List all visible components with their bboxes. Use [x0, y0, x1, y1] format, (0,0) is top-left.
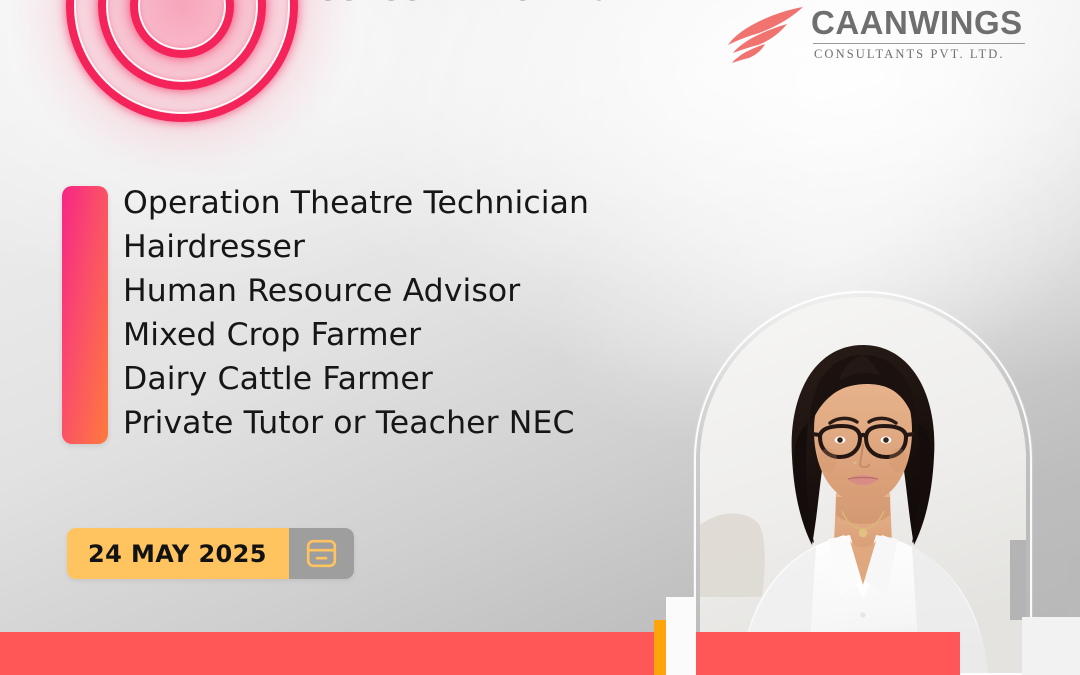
accent-bar — [62, 186, 108, 444]
footer-red-bar — [0, 632, 960, 675]
job-list: Operation Theatre Technician Hairdresser… — [123, 181, 743, 445]
list-item: Human Resource Advisor — [123, 269, 743, 313]
list-item: Private Tutor or Teacher NEC — [123, 401, 743, 445]
poster-canvas: ASSESSMENTS RECEIVED CAANWINGS CONSULTAN… — [0, 0, 1080, 675]
list-item: Operation Theatre Technician — [123, 181, 743, 225]
brand-divider — [813, 43, 1025, 44]
date-badge[interactable]: 24 MAY 2025 — [67, 528, 354, 579]
list-item: Dairy Cattle Farmer — [123, 357, 743, 401]
concentric-rings-icon — [58, 0, 308, 132]
list-item: Hairdresser — [123, 225, 743, 269]
edge-corner-white — [1022, 617, 1080, 675]
list-item: Mixed Crop Farmer — [123, 313, 743, 357]
brand-tagline: CONSULTANTS PVT. LTD. — [811, 47, 1023, 62]
date-label: 24 MAY 2025 — [67, 528, 289, 579]
brand-name: CAANWINGS — [811, 6, 1023, 39]
wing-icon — [727, 4, 805, 66]
footer-white-block — [666, 597, 696, 675]
edge-accent-gray — [1010, 540, 1026, 620]
date-icon-panel[interactable] — [289, 528, 354, 579]
brand-logo[interactable]: CAANWINGS CONSULTANTS PVT. LTD. — [727, 2, 1023, 66]
calendar-card-icon — [306, 539, 337, 568]
arch-frame — [694, 291, 1032, 675]
